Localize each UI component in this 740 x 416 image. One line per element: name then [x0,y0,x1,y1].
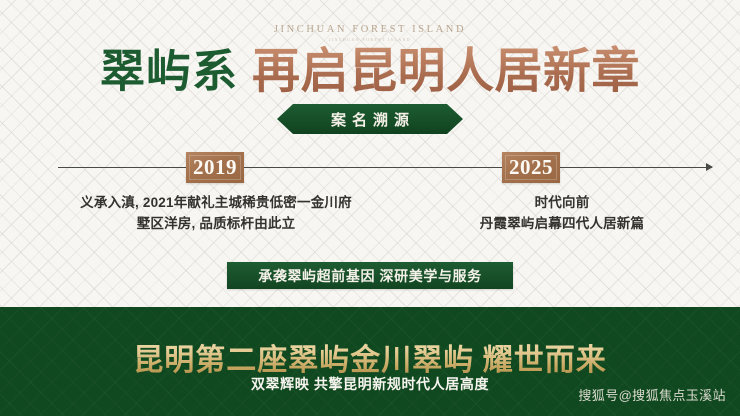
value-proposition-label: 承袭翠屿超前基因 深研美学与服务 [258,266,482,286]
timeline-axis [58,167,712,168]
timeline-year-badge-2019: 2019 [186,152,244,183]
headline-main-text: 再启昆明人居新章 [252,45,640,98]
watermark: 搜狐号@搜狐焦点玉溪站 [578,385,726,404]
timeline-year-tick-2025: ' [554,153,556,169]
timeline-copy-line-1: 时代向前 [432,193,692,214]
brand-logo: JINCHUAN FOREST ISLAND JINCHUAN FOREST I… [0,24,740,42]
poster-canvas: JINCHUAN FOREST ISLAND JINCHUAN FOREST I… [0,0,740,416]
arrow-right-icon [706,163,713,171]
brand-subtitle: JINCHUAN FOREST ISLAND [0,37,740,42]
timeline-copy-line-2: 墅区洋房, 品质标杆由此立 [60,214,372,235]
timeline-copy-2019: 义承入滇, 2021年献礼主城稀贵低密一金川府 墅区洋房, 品质标杆由此立 [60,193,372,235]
timeline-copy-line-1: 义承入滇, 2021年献礼主城稀贵低密一金川府 [60,193,372,214]
page-title: 翠屿系再启昆明人居新章 [0,48,740,96]
value-proposition-bar: 承袭翠屿超前基因 深研美学与服务 [227,262,513,289]
timeline-year-tick-2019: ' [238,153,240,169]
timeline-copy-2025: 时代向前 丹霞翠屿启幕四代人居新篇 [432,193,692,235]
timeline-copy-line-2: 丹霞翠屿启幕四代人居新篇 [432,214,692,235]
brand-name: JINCHUAN FOREST ISLAND [0,24,740,35]
headline-series-name: 翠屿系 [100,47,238,97]
timeline-year-label: 2019 [193,157,237,178]
section-banner-label: 案名溯源 [325,109,415,130]
timeline-year-badge-2025: 2025 [502,152,560,183]
footer-title: 昆明第二座翠屿金川翠屿 耀世而来 [0,335,740,379]
section-banner: 案名溯源 [277,104,463,134]
timeline-year-label: 2025 [509,157,553,178]
